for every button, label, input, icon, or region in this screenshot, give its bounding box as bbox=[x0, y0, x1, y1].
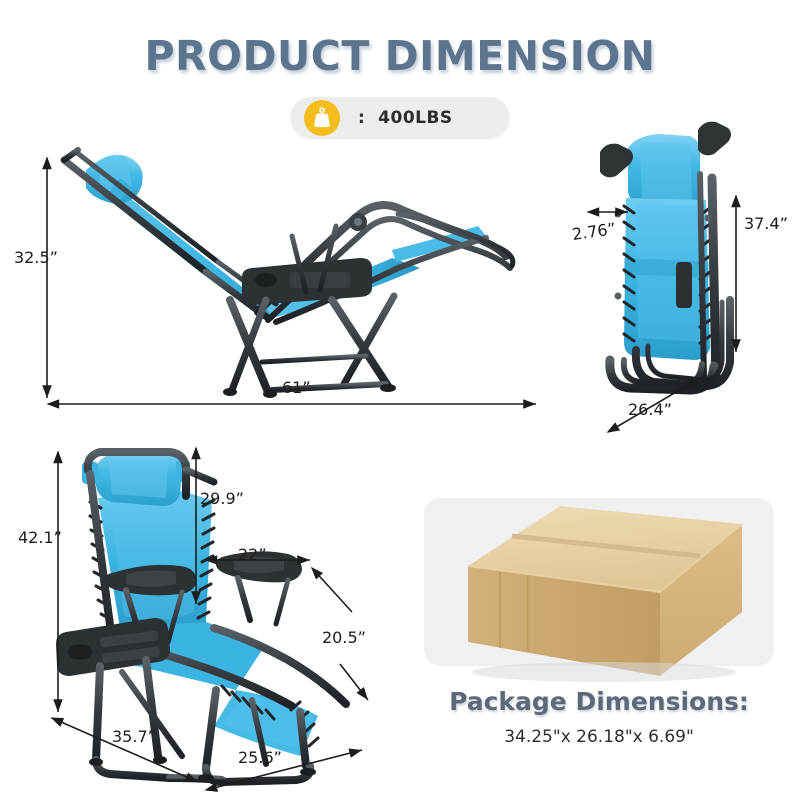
dimension-label-26-4: 26.4” bbox=[628, 400, 672, 419]
page-title: PRODUCT DIMENSION bbox=[0, 32, 800, 80]
dimension-label-20-5: 20.5” bbox=[322, 628, 366, 647]
dimension-label-22: 22” bbox=[238, 545, 267, 564]
dimension-label-2-76: 2.76” bbox=[571, 219, 617, 244]
reclined-chair-illustration bbox=[64, 150, 513, 398]
product-dimension-infographic: PRODUCT DIMENSION : 400LBS bbox=[0, 0, 800, 800]
side-tray-upright bbox=[56, 618, 170, 676]
package-dimensions-value: 34.25"x 26.18"x 6.69" bbox=[424, 727, 774, 747]
headrest-pillow bbox=[86, 155, 143, 204]
armrest-left bbox=[104, 565, 196, 595]
weight-capacity-value: 400LBS bbox=[378, 108, 453, 128]
dimension-label-61: 61” bbox=[282, 378, 311, 397]
package-image-panel bbox=[424, 498, 774, 666]
side-tray bbox=[242, 258, 372, 305]
weight-capacity-label: : 400LBS bbox=[358, 108, 453, 128]
dimension-label-35-7: 35.7” bbox=[112, 727, 156, 746]
dimension-label-32-5: 32.5” bbox=[14, 248, 58, 267]
folded-chair-illustration bbox=[600, 122, 731, 390]
dimension-label-25-6: 25.6” bbox=[238, 748, 282, 767]
headrest-pillow-upright bbox=[82, 450, 190, 506]
dimension-label-42-1: 42.1” bbox=[18, 528, 62, 547]
weight-separator: : bbox=[358, 108, 365, 128]
package-dimensions-heading: Package Dimensions: bbox=[424, 687, 774, 716]
dimension-label-29-9: 29.9” bbox=[200, 489, 244, 508]
dimension-25-6-line bbox=[206, 750, 362, 790]
dimension-label-37-4: 37.4” bbox=[744, 214, 788, 233]
weight-capacity-badge: : 400LBS bbox=[290, 97, 510, 139]
package-box-illustration bbox=[468, 506, 742, 682]
weight-icon bbox=[304, 100, 340, 136]
